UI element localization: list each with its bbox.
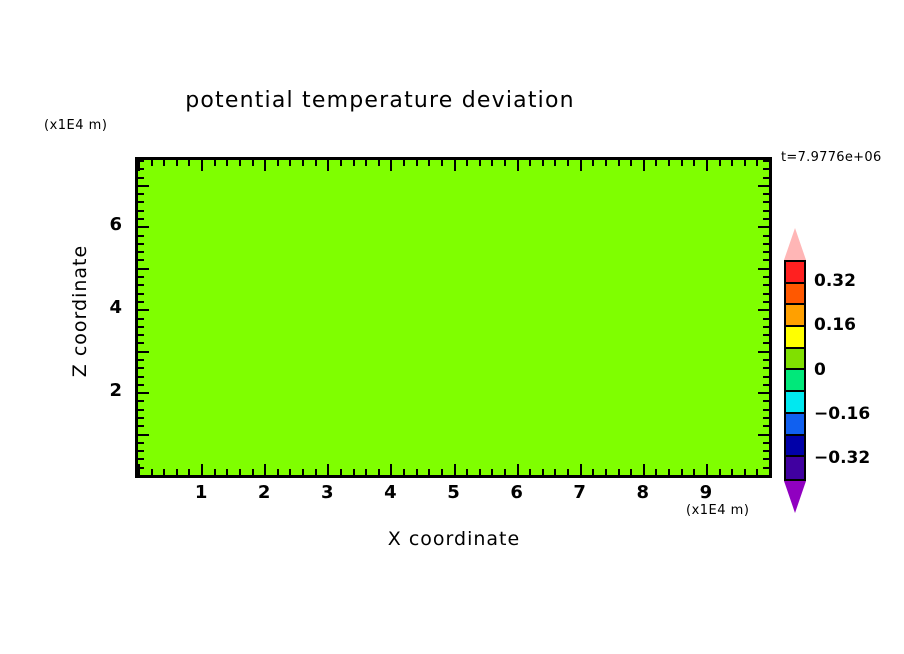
tick-mark xyxy=(138,434,149,436)
tick-mark xyxy=(681,469,683,475)
colorbar-label: 0.16 xyxy=(814,315,856,335)
tick-mark xyxy=(138,226,149,228)
tick-mark xyxy=(277,160,279,166)
tick-mark xyxy=(763,376,769,378)
colorbar-bands xyxy=(784,260,806,481)
tick-mark xyxy=(428,160,430,166)
tick-mark xyxy=(763,425,769,427)
tick-mark xyxy=(567,160,569,166)
contour-field xyxy=(138,160,769,475)
tick-mark xyxy=(605,160,607,166)
colorbar-band xyxy=(786,327,804,349)
tick-mark xyxy=(201,160,203,171)
tick-mark xyxy=(390,464,392,475)
tick-mark xyxy=(466,469,468,475)
tick-mark xyxy=(252,160,254,166)
tick-mark xyxy=(618,469,620,475)
tick-mark xyxy=(138,475,149,477)
tick-mark xyxy=(138,218,144,220)
x-tick-label: 7 xyxy=(560,482,600,503)
tick-mark xyxy=(138,467,144,469)
tick-mark xyxy=(668,160,670,166)
tick-mark xyxy=(138,458,144,460)
x-tick-label: 2 xyxy=(244,482,284,503)
tick-mark xyxy=(226,469,228,475)
y-axis-title: Z coordinate xyxy=(69,211,91,411)
colorbar-band xyxy=(786,370,804,392)
tick-mark xyxy=(277,469,279,475)
tick-mark xyxy=(763,259,769,261)
tick-mark xyxy=(706,464,708,475)
tick-mark xyxy=(758,309,769,311)
tick-mark xyxy=(201,464,203,475)
tick-mark xyxy=(580,464,582,475)
tick-mark xyxy=(138,351,149,353)
tick-mark xyxy=(763,193,769,195)
tick-mark xyxy=(138,334,144,336)
tick-mark xyxy=(763,400,769,402)
tick-mark xyxy=(517,464,519,475)
tick-mark xyxy=(719,160,721,166)
tick-mark xyxy=(542,469,544,475)
tick-mark xyxy=(706,160,708,171)
colorbar-band xyxy=(786,305,804,327)
tick-mark xyxy=(403,469,405,475)
tick-mark xyxy=(529,160,531,166)
tick-mark xyxy=(138,284,144,286)
y-tick-label: 4 xyxy=(92,297,122,318)
tick-mark xyxy=(643,464,645,475)
tick-mark xyxy=(188,160,190,166)
tick-mark xyxy=(681,160,683,166)
tick-mark xyxy=(353,160,355,166)
tick-mark xyxy=(731,469,733,475)
tick-mark xyxy=(138,210,144,212)
tick-mark xyxy=(138,268,149,270)
tick-mark xyxy=(592,469,594,475)
tick-mark xyxy=(214,160,216,166)
tick-mark xyxy=(744,469,746,475)
tick-mark xyxy=(327,160,329,171)
tick-mark xyxy=(567,469,569,475)
tick-mark xyxy=(138,318,144,320)
colorbar xyxy=(784,228,806,513)
tick-mark xyxy=(758,226,769,228)
tick-mark xyxy=(365,469,367,475)
tick-mark xyxy=(264,160,266,171)
tick-mark xyxy=(454,464,456,475)
x-tick-label: 6 xyxy=(497,482,537,503)
tick-mark xyxy=(763,276,769,278)
y-tick-label: 6 xyxy=(92,214,122,235)
tick-mark xyxy=(252,469,254,475)
tick-mark xyxy=(542,160,544,166)
tick-mark xyxy=(466,160,468,166)
tick-mark xyxy=(151,160,153,166)
tick-mark xyxy=(138,185,149,187)
colorbar-label: 0 xyxy=(814,360,826,380)
tick-mark xyxy=(763,342,769,344)
tick-mark xyxy=(340,469,342,475)
tick-mark xyxy=(315,469,317,475)
tick-mark xyxy=(138,376,144,378)
colorbar-label: 0.32 xyxy=(814,271,856,291)
tick-mark xyxy=(763,334,769,336)
tick-mark xyxy=(138,409,144,411)
tick-mark xyxy=(479,469,481,475)
colorbar-band xyxy=(786,457,804,479)
tick-mark xyxy=(758,434,769,436)
x-tick-label: 3 xyxy=(307,482,347,503)
colorbar-band xyxy=(786,392,804,414)
tick-mark xyxy=(264,464,266,475)
tick-mark xyxy=(731,160,733,166)
tick-mark xyxy=(763,384,769,386)
tick-mark xyxy=(763,318,769,320)
tick-mark xyxy=(479,160,481,166)
tick-mark xyxy=(529,469,531,475)
tick-mark xyxy=(618,160,620,166)
tick-mark xyxy=(163,469,165,475)
tick-mark xyxy=(138,201,144,203)
tick-mark xyxy=(138,326,144,328)
tick-mark xyxy=(517,160,519,171)
tick-mark xyxy=(504,469,506,475)
tick-mark xyxy=(630,160,632,166)
tick-mark xyxy=(138,384,144,386)
tick-mark xyxy=(763,201,769,203)
y-axis-units-label: (x1E4 m) xyxy=(44,118,107,133)
tick-mark xyxy=(693,469,695,475)
tick-mark xyxy=(138,259,144,261)
tick-mark xyxy=(214,469,216,475)
tick-mark xyxy=(763,442,769,444)
tick-mark xyxy=(605,469,607,475)
colorbar-label: −0.16 xyxy=(814,404,870,424)
tick-mark xyxy=(763,409,769,411)
tick-mark xyxy=(353,469,355,475)
x-axis-units-label: (x1E4 m) xyxy=(686,503,749,518)
tick-mark xyxy=(580,160,582,171)
tick-mark xyxy=(769,160,771,171)
tick-mark xyxy=(758,475,769,477)
tick-mark xyxy=(763,293,769,295)
colorbar-cap-bottom xyxy=(784,481,806,513)
tick-mark xyxy=(138,293,144,295)
tick-mark xyxy=(643,160,645,171)
tick-mark xyxy=(763,359,769,361)
tick-mark xyxy=(340,160,342,166)
x-tick-label: 5 xyxy=(434,482,474,503)
tick-mark xyxy=(390,160,392,171)
tick-mark xyxy=(763,168,769,170)
tick-mark xyxy=(239,160,241,166)
contour-plot-frame xyxy=(135,157,772,478)
tick-mark xyxy=(365,160,367,166)
tick-mark xyxy=(504,160,506,166)
tick-mark xyxy=(763,458,769,460)
tick-mark xyxy=(239,469,241,475)
tick-mark xyxy=(176,469,178,475)
tick-mark xyxy=(188,469,190,475)
tick-mark xyxy=(769,464,771,475)
tick-mark xyxy=(758,351,769,353)
tick-mark xyxy=(327,464,329,475)
tick-mark xyxy=(138,392,149,394)
tick-mark xyxy=(302,160,304,166)
tick-mark xyxy=(763,243,769,245)
tick-mark xyxy=(378,469,380,475)
tick-mark xyxy=(763,218,769,220)
tick-mark xyxy=(763,417,769,419)
tick-mark xyxy=(315,160,317,166)
tick-mark xyxy=(554,469,556,475)
tick-mark xyxy=(491,469,493,475)
colorbar-band xyxy=(786,436,804,458)
tick-mark xyxy=(428,469,430,475)
tick-mark xyxy=(763,326,769,328)
tick-mark xyxy=(668,469,670,475)
tick-mark xyxy=(138,301,144,303)
tick-mark xyxy=(491,160,493,166)
x-tick-label: 8 xyxy=(623,482,663,503)
x-tick-label: 4 xyxy=(370,482,410,503)
tick-mark xyxy=(655,160,657,166)
y-tick-label: 2 xyxy=(92,380,122,401)
tick-mark xyxy=(655,469,657,475)
tick-mark xyxy=(302,469,304,475)
tick-mark xyxy=(138,160,144,162)
tick-mark xyxy=(630,469,632,475)
tick-mark xyxy=(763,177,769,179)
tick-mark xyxy=(758,392,769,394)
tick-mark xyxy=(693,160,695,166)
tick-mark xyxy=(138,243,144,245)
tick-mark xyxy=(138,450,144,452)
tick-mark xyxy=(138,342,144,344)
tick-mark xyxy=(138,417,144,419)
tick-mark xyxy=(138,359,144,361)
tick-mark xyxy=(416,469,418,475)
colorbar-band xyxy=(786,284,804,306)
tick-mark xyxy=(416,160,418,166)
tick-mark xyxy=(138,193,144,195)
tick-mark xyxy=(163,160,165,166)
tick-mark xyxy=(758,185,769,187)
tick-mark xyxy=(763,450,769,452)
tick-mark xyxy=(719,469,721,475)
tick-mark xyxy=(138,168,144,170)
tick-mark xyxy=(138,235,144,237)
tick-mark xyxy=(378,160,380,166)
tick-mark xyxy=(138,464,140,475)
tick-mark xyxy=(763,210,769,212)
page-title: potential temperature deviation xyxy=(0,88,760,113)
tick-mark xyxy=(763,467,769,469)
tick-mark xyxy=(138,425,144,427)
tick-mark xyxy=(744,160,746,166)
colorbar-cap-top xyxy=(784,228,806,260)
tick-mark xyxy=(763,235,769,237)
tick-mark xyxy=(441,469,443,475)
tick-mark xyxy=(176,160,178,166)
colorbar-band xyxy=(786,414,804,436)
tick-mark xyxy=(226,160,228,166)
tick-mark xyxy=(441,160,443,166)
tick-mark xyxy=(763,160,769,162)
x-tick-label: 9 xyxy=(686,482,726,503)
tick-mark xyxy=(138,276,144,278)
tick-mark xyxy=(592,160,594,166)
colorbar-label: −0.32 xyxy=(814,448,870,468)
tick-mark xyxy=(454,160,456,171)
tick-mark xyxy=(138,251,144,253)
colorbar-band xyxy=(786,262,804,284)
tick-mark xyxy=(763,367,769,369)
tick-mark xyxy=(763,301,769,303)
tick-mark xyxy=(138,400,144,402)
tick-mark xyxy=(756,160,758,166)
x-tick-label: 1 xyxy=(181,482,221,503)
tick-mark xyxy=(138,442,144,444)
tick-mark xyxy=(763,284,769,286)
time-annotation: t=7.9776e+06 xyxy=(781,150,882,165)
tick-mark xyxy=(138,367,144,369)
tick-mark xyxy=(554,160,556,166)
tick-mark xyxy=(763,251,769,253)
tick-mark xyxy=(138,177,144,179)
tick-mark xyxy=(758,268,769,270)
tick-mark xyxy=(289,160,291,166)
tick-mark xyxy=(289,469,291,475)
x-axis-title: X coordinate xyxy=(135,528,773,550)
tick-mark xyxy=(138,309,149,311)
tick-mark xyxy=(403,160,405,166)
colorbar-band xyxy=(786,349,804,371)
tick-mark xyxy=(151,469,153,475)
